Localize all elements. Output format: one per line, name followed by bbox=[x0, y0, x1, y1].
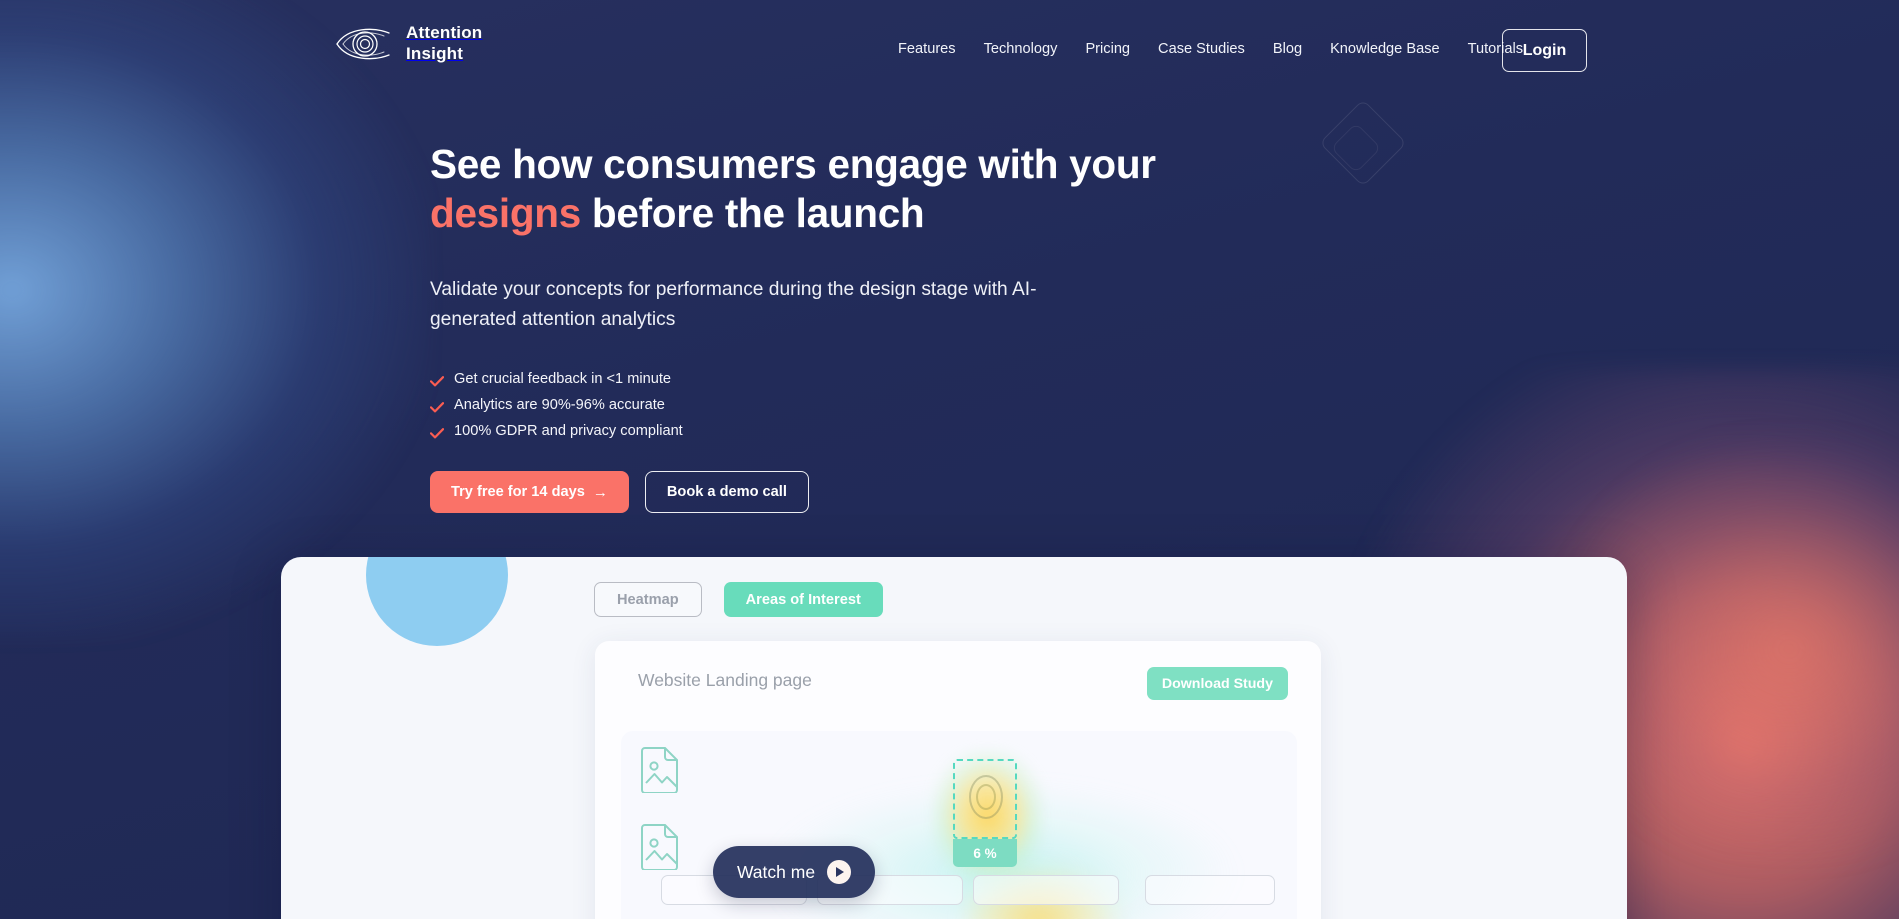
login-button[interactable]: Login bbox=[1502, 29, 1587, 72]
product-demo-panel: Heatmap Areas of Interest Website Landin… bbox=[281, 557, 1627, 919]
check-icon bbox=[430, 374, 444, 385]
bullet-label: 100% GDPR and privacy compliant bbox=[454, 421, 683, 441]
headline-part-2: before the launch bbox=[581, 190, 924, 236]
play-icon bbox=[827, 860, 851, 884]
list-item: Get crucial feedback in <1 minute bbox=[430, 369, 1250, 389]
logo-text: Attention Insight bbox=[406, 23, 482, 64]
arrow-right-icon: → bbox=[593, 485, 608, 500]
area-of-interest-box[interactable] bbox=[953, 759, 1017, 839]
download-study-button[interactable]: Download Study bbox=[1147, 667, 1288, 700]
nav-item-features[interactable]: Features bbox=[898, 39, 970, 59]
headline-part-1: See how consumers engage with your bbox=[430, 141, 1156, 187]
site-header: Attention Insight Features Technology Pr… bbox=[0, 0, 1899, 97]
nav-item-blog[interactable]: Blog bbox=[1259, 39, 1316, 59]
decorative-circle bbox=[366, 557, 508, 646]
hero-section: See how consumers engage with your desig… bbox=[430, 140, 1250, 513]
check-icon bbox=[430, 400, 444, 411]
watch-me-button[interactable]: Watch me bbox=[713, 846, 875, 898]
mock-field bbox=[973, 875, 1119, 905]
image-placeholder-icon bbox=[641, 745, 681, 793]
study-title: Website Landing page bbox=[638, 670, 812, 691]
tab-heatmap[interactable]: Heatmap bbox=[594, 582, 702, 617]
nav-item-knowledge-base[interactable]: Knowledge Base bbox=[1316, 39, 1454, 59]
study-card: Website Landing page Download Study bbox=[595, 641, 1321, 919]
logo-link[interactable]: Attention Insight bbox=[334, 23, 482, 65]
primary-navigation: Features Technology Pricing Case Studies… bbox=[898, 39, 1537, 59]
hero-subtitle: Validate your concepts for performance d… bbox=[430, 275, 1040, 336]
nav-item-case-studies[interactable]: Case Studies bbox=[1144, 39, 1259, 59]
bullet-label: Get crucial feedback in <1 minute bbox=[454, 369, 671, 389]
list-item: Analytics are 90%-96% accurate bbox=[430, 395, 1250, 415]
try-free-label: Try free for 14 days bbox=[451, 484, 585, 500]
eye-logo-icon bbox=[334, 23, 394, 65]
image-placeholder-icon bbox=[641, 822, 681, 870]
watch-me-label: Watch me bbox=[737, 862, 815, 883]
feature-bullet-list: Get crucial feedback in <1 minute Analyt… bbox=[430, 369, 1250, 441]
visualization-tabs: Heatmap Areas of Interest bbox=[594, 582, 883, 617]
headline-accent: designs bbox=[430, 190, 581, 236]
mock-field bbox=[1145, 875, 1275, 905]
tab-areas-of-interest[interactable]: Areas of Interest bbox=[724, 582, 883, 617]
list-item: 100% GDPR and privacy compliant bbox=[430, 421, 1250, 441]
bullet-label: Analytics are 90%-96% accurate bbox=[454, 395, 665, 415]
check-icon bbox=[430, 426, 444, 437]
aoi-percentage-badge: 6 % bbox=[953, 839, 1017, 867]
book-demo-button[interactable]: Book a demo call bbox=[645, 471, 809, 513]
hero-cta-row: Try free for 14 days → Book a demo call bbox=[430, 471, 1250, 513]
study-card-header: Website Landing page Download Study bbox=[595, 641, 1321, 725]
nav-item-technology[interactable]: Technology bbox=[970, 39, 1072, 59]
page-title: See how consumers engage with your desig… bbox=[430, 140, 1250, 239]
try-free-button[interactable]: Try free for 14 days → bbox=[430, 471, 629, 513]
landing-page: Attention Insight Features Technology Pr… bbox=[0, 0, 1899, 919]
nav-item-pricing[interactable]: Pricing bbox=[1071, 39, 1144, 59]
